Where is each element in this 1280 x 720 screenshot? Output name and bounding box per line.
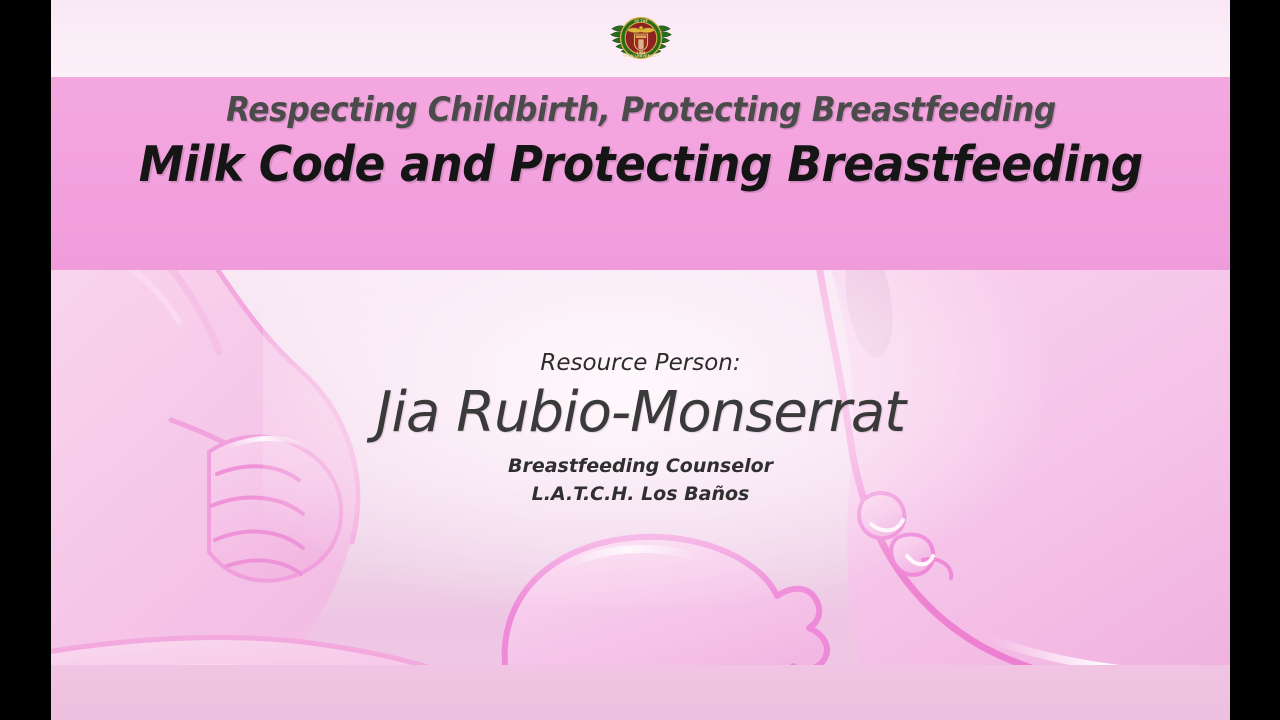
presenter-organization: L.A.T.C.H. Los Baños <box>51 481 1230 509</box>
slide-subtitle: Respecting Childbirth, Protecting Breast… <box>226 93 1056 129</box>
presentation-slide: OF THE OPEN UNIVERSITY 1908 Respecting C… <box>51 0 1230 720</box>
letterbox-right <box>1230 0 1280 720</box>
screenshot-stage: OF THE OPEN UNIVERSITY 1908 Respecting C… <box>0 0 1280 720</box>
lower-color-band <box>51 665 1230 720</box>
presenter-role: Breastfeeding Counselor <box>51 453 1230 481</box>
letterbox-left <box>0 0 51 720</box>
slide-title: Milk Code and Protecting Breastfeeding <box>139 139 1143 190</box>
title-band: Respecting Childbirth, Protecting Breast… <box>51 77 1230 270</box>
resource-person-label: Resource Person: <box>51 350 1230 378</box>
up-open-university-seal-icon: OF THE OPEN UNIVERSITY 1908 <box>608 5 674 71</box>
presenter-block: Resource Person: Jia Rubio-Monserrat Bre… <box>51 350 1230 508</box>
svg-text:OF THE: OF THE <box>634 19 648 23</box>
presenter-name: Jia Rubio-Monserrat <box>51 382 1230 444</box>
svg-text:1908: 1908 <box>636 51 646 55</box>
